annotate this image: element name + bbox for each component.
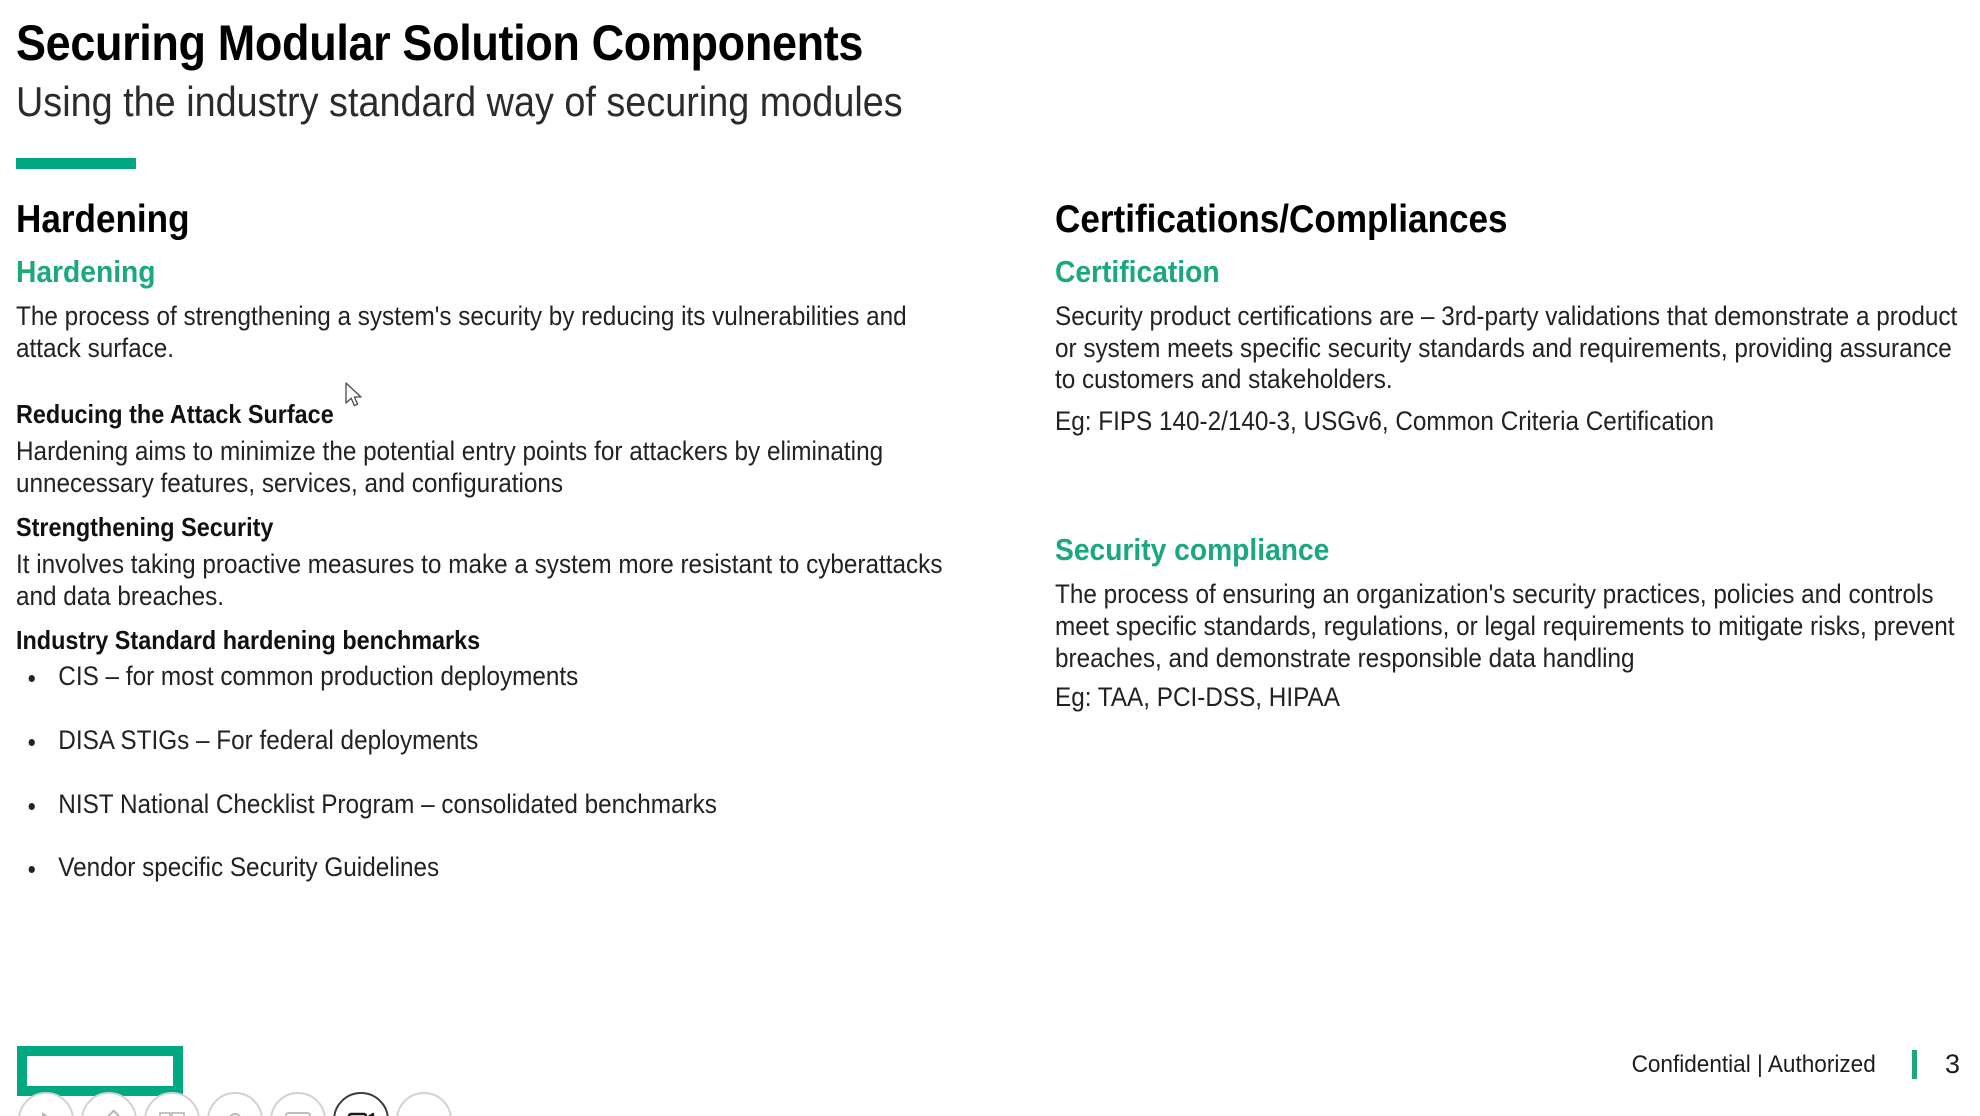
screen-share-icon (283, 1108, 313, 1116)
body-strengthening-security: It involves taking proactive measures to… (16, 549, 975, 612)
bullet-dot-icon (29, 739, 35, 746)
spacer (16, 612, 976, 626)
security-compliance-body: The process of ensuring an organization'… (1055, 579, 1974, 674)
bullet-dot-icon (29, 866, 35, 873)
subheading-industry-benchmarks: Industry Standard hardening benchmarks (16, 626, 880, 656)
camera-video-button[interactable] (333, 1092, 389, 1116)
pen-icon (95, 1106, 123, 1116)
spacer (16, 364, 976, 400)
screen-share-button[interactable] (270, 1092, 326, 1116)
security-compliance-heading: Security compliance (1055, 533, 1892, 567)
hardening-intro-text: The process of strengthening a system's … (16, 301, 975, 364)
laser-pointer-button[interactable] (18, 1092, 74, 1116)
right-column-heading: Certifications/Compliances (1055, 200, 1883, 241)
pen-button[interactable] (81, 1092, 137, 1116)
layout-button[interactable] (144, 1092, 200, 1116)
page-number: 3 (1945, 1049, 1960, 1080)
page-title: Securing Modular Solution Components (16, 18, 1766, 68)
hpe-logo-inner (27, 1056, 173, 1086)
footer-right: Confidential | Authorized 3 (1616, 1049, 1960, 1080)
page-subtitle: Using the industry standard way of secur… (16, 80, 1766, 124)
ink-eraser-icon (222, 1107, 248, 1116)
security-compliance-example: Eg: TAA, PCI-DSS, HIPAA (1055, 682, 1974, 714)
slide-header: Securing Modular Solution Components Usi… (16, 18, 1960, 124)
ink-eraser-button[interactable] (207, 1092, 263, 1116)
body-reducing-attack-surface: Hardening aims to minimize the potential… (16, 436, 975, 499)
right-column: Certifications/Compliances Certification… (1055, 200, 1975, 714)
benchmark-list: CIS – for most common production deploym… (16, 662, 976, 883)
left-column-heading: Hardening (16, 200, 880, 241)
certification-body: Security product certifications are – 3r… (1055, 301, 1974, 396)
hpe-logo (17, 1046, 183, 1096)
list-item-label: DISA STIGs – For federal deployments (58, 725, 478, 755)
presenter-toolbar (0, 1092, 460, 1116)
list-item-label: CIS – for most common production deploym… (58, 661, 578, 691)
list-item: NIST National Checklist Program – consol… (16, 790, 880, 820)
left-column: Hardening Hardening The process of stren… (16, 200, 976, 917)
bullet-dot-icon (29, 803, 35, 810)
laser-pointer-icon (33, 1107, 59, 1116)
subheading-strengthening-security: Strengthening Security (16, 513, 880, 543)
list-item-label: Vendor specific Security Guidelines (58, 852, 439, 882)
bullet-dot-icon (29, 675, 35, 682)
certification-example: Eg: FIPS 140-2/140-3, USGv6, Common Crit… (1055, 406, 1974, 438)
subheading-reducing-attack-surface: Reducing the Attack Surface (16, 400, 880, 430)
classification-label: Confidential | Authorized (1632, 1051, 1876, 1079)
layout-icon (158, 1108, 186, 1116)
accent-rule (16, 158, 136, 169)
list-item-label: NIST National Checklist Program – consol… (58, 789, 717, 819)
camera-video-icon (346, 1108, 376, 1116)
list-item: Vendor specific Security Guidelines (16, 853, 880, 883)
slide: Securing Modular Solution Components Usi… (0, 0, 1980, 1116)
spacer (1055, 437, 1975, 533)
left-green-heading: Hardening (16, 255, 890, 289)
certification-heading: Certification (1055, 255, 1892, 289)
footer-separator (1912, 1050, 1917, 1079)
list-item: CIS – for most common production deploym… (16, 662, 880, 692)
list-item: DISA STIGs – For federal deployments (16, 726, 880, 756)
spacer (16, 499, 976, 513)
more-options-button[interactable] (396, 1092, 452, 1116)
